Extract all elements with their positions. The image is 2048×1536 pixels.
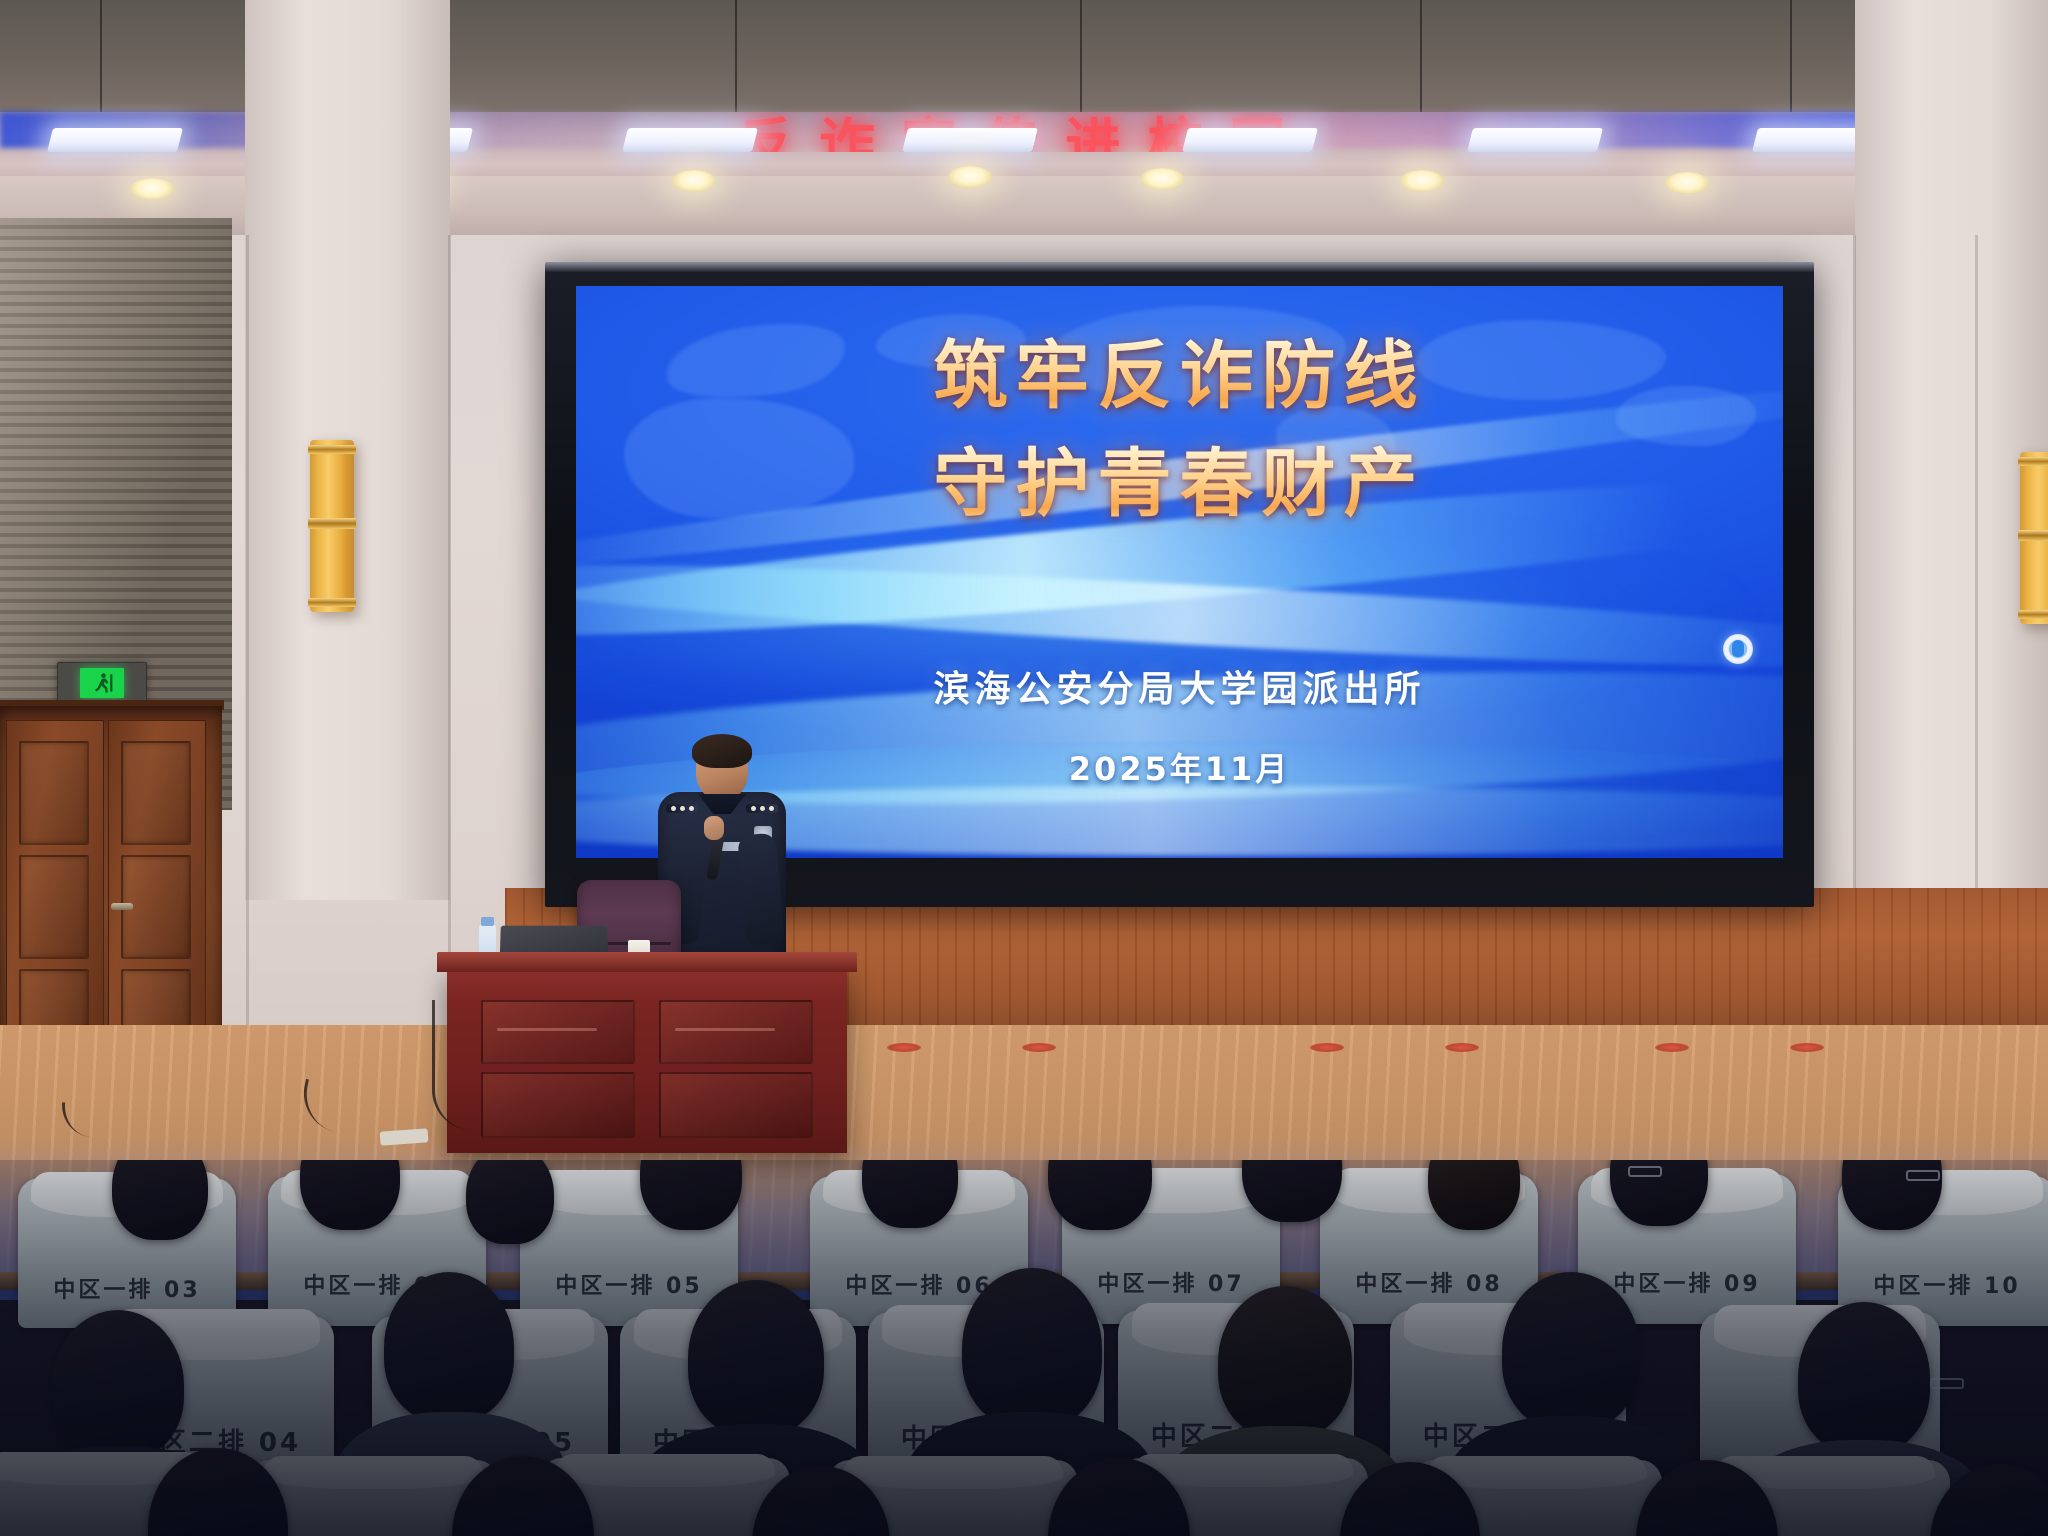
desk-panel	[481, 1000, 635, 1064]
seat-label: 中区一排 07	[1062, 1266, 1280, 1298]
desk-panel	[481, 1072, 635, 1138]
seat-headrest	[843, 1456, 1063, 1489]
audience-head	[1428, 1160, 1520, 1230]
rank-star-icon	[751, 806, 756, 811]
stage-floor-marker	[1790, 1043, 1824, 1052]
rank-star-icon	[671, 806, 676, 811]
eyeglasses-icon	[1628, 1166, 1662, 1177]
desk-cable	[432, 1000, 475, 1130]
audience-head	[1798, 1302, 1930, 1454]
audience-head	[1218, 1286, 1352, 1438]
ceiling-downlight	[948, 166, 992, 188]
audience-head	[52, 1310, 184, 1460]
desk-panel	[659, 1072, 813, 1138]
slide-organization: 滨海公安分局大学园派出所	[576, 660, 1783, 712]
seat-label: 中区一排 08	[1320, 1266, 1538, 1298]
ceiling-panel-light	[47, 128, 183, 152]
seat-label: 中区一排 03	[18, 1272, 236, 1304]
emergency-exit-sign	[57, 662, 147, 704]
ceiling-panel-light	[1182, 128, 1318, 152]
desk-panel	[659, 1000, 813, 1064]
wall-groove	[246, 235, 249, 1135]
audience-head	[466, 1160, 554, 1244]
wall-sconce	[2020, 452, 2048, 624]
seat-headrest	[263, 1456, 483, 1489]
slide-title-line-1: 筑牢反诈防线	[576, 334, 1783, 418]
auditorium-scene: 反诈宣传进校园	[0, 0, 2048, 1536]
seat-headrest	[1427, 1456, 1647, 1489]
door-handle-icon[interactable]	[111, 903, 133, 910]
audience-head	[1502, 1272, 1640, 1430]
stage-floor-marker	[1445, 1043, 1479, 1052]
speaker-epaulette-right	[746, 804, 778, 813]
bottle-cap	[481, 917, 494, 926]
wall-sconce	[310, 440, 354, 612]
ceiling-panel-light	[902, 128, 1038, 152]
rank-star-icon	[689, 806, 694, 811]
ceiling-downlight	[130, 178, 174, 200]
audience-seating: 中区一排 03 中区一排 04 中区一排 05 中区一排 06 中区一排 07 …	[0, 1160, 2048, 1536]
ceiling-panel-light	[622, 128, 758, 152]
wall-sconce-band	[2018, 530, 2048, 541]
door-panel	[19, 741, 89, 845]
desk-panel-highlight	[497, 1028, 597, 1031]
wall-pilaster	[1855, 0, 2048, 900]
ceiling-downlight	[672, 170, 716, 192]
door-panel	[19, 855, 89, 959]
emergency-exit-icon	[80, 668, 124, 698]
presenter-desk[interactable]	[447, 968, 847, 1153]
audience-head	[384, 1272, 514, 1422]
stage-floor-marker	[887, 1043, 921, 1052]
speaker-hair	[692, 734, 752, 768]
door-panel	[121, 741, 191, 845]
eyeglasses-icon	[1906, 1170, 1940, 1181]
bezel-highlight	[545, 262, 1814, 272]
slide-title-line-2: 守护青春财产	[576, 442, 1783, 526]
rank-star-icon	[769, 806, 774, 811]
desk-panel-highlight	[675, 1028, 775, 1031]
speaker-epaulette-left	[666, 804, 698, 813]
stage-floor-marker	[1310, 1043, 1344, 1052]
audience-head	[962, 1268, 1102, 1428]
audience-head	[688, 1280, 824, 1436]
rank-star-icon	[680, 806, 685, 811]
seat-label: 中区一排 05	[520, 1268, 738, 1300]
audience-head	[112, 1160, 208, 1240]
seat-headrest	[555, 1454, 775, 1487]
rank-star-icon	[760, 806, 765, 811]
stage-floor-marker	[1022, 1043, 1056, 1052]
desk-top	[437, 952, 857, 972]
seat-label: 中区一排 10	[1838, 1268, 2048, 1300]
wall-sconce-band	[308, 518, 356, 529]
ceiling-downlight	[1665, 172, 1709, 194]
ceiling-downlight	[1400, 170, 1444, 192]
speaker-hand	[704, 816, 724, 840]
eyeglasses-icon	[1930, 1378, 1964, 1389]
ceiling-panel-light	[1467, 128, 1603, 152]
screen-watermark-icon	[1723, 634, 1753, 664]
ceiling-downlight	[1140, 168, 1184, 190]
stage-floor-marker	[1655, 1043, 1689, 1052]
